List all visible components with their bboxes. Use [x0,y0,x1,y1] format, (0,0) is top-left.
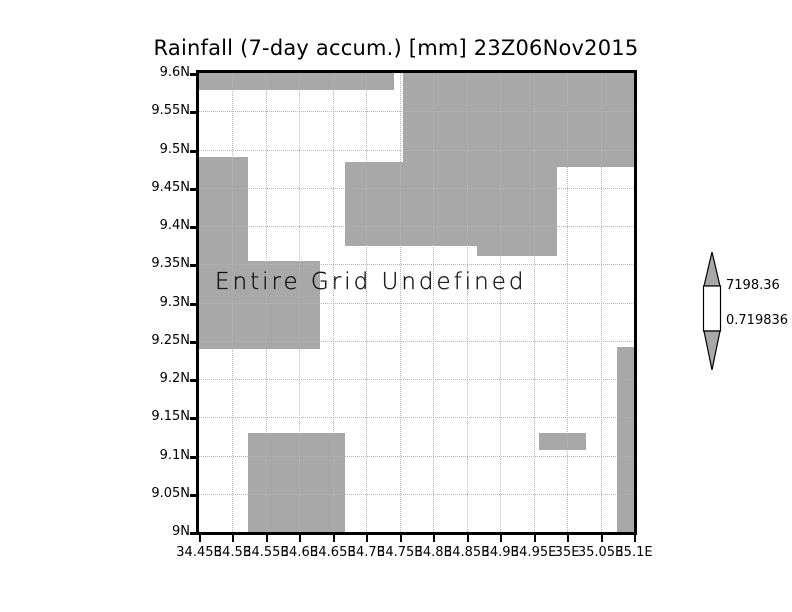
x-axis-tick-label: 34.95E [511,545,556,560]
undefined-cell [617,347,634,436]
undefined-cell [248,433,345,532]
gridline-horizontal [199,264,634,265]
undefined-cell [199,157,248,261]
y-axis-tick-label: 9.15N [151,409,190,424]
y-axis-tick [190,303,197,306]
gridline-horizontal [199,379,634,380]
undefined-cell [617,433,634,532]
x-axis-tick [366,535,368,542]
gridline-horizontal [199,226,634,227]
gridline-horizontal [199,417,634,418]
y-axis-tick [190,456,197,459]
x-axis-tick [534,535,536,542]
y-axis-tick [190,226,197,229]
y-axis-tick [190,73,197,76]
y-axis-tick [190,379,197,382]
undefined-cell [477,167,556,256]
y-axis-tick [190,494,197,497]
y-axis-tick [190,417,197,420]
y-axis-tick-label: 9.2N [160,371,190,386]
colorbar-min-label: 0.719836 [726,313,788,328]
y-axis-tick [190,111,197,114]
y-axis-tick-label: 9.55N [151,103,190,118]
x-axis-tick [601,535,603,542]
y-axis-tick-label: 9.4N [160,218,190,233]
gridline-horizontal [199,341,634,342]
y-axis-tick [190,188,197,191]
plot-inner [199,73,634,532]
y-axis-tick-label: 9N [172,524,190,539]
y-axis-tick [190,150,197,153]
y-axis-tick-label: 9.1N [160,448,190,463]
x-axis-tick [299,535,301,542]
x-axis-tick [232,535,234,542]
entire-grid-undefined-label: Entire Grid Undefined [215,269,527,295]
y-axis-tick [190,532,197,535]
plot-area[interactable]: Entire Grid Undefined [196,70,637,535]
colorbar-max-label: 7198.36 [726,278,780,293]
gridline-horizontal [199,188,634,189]
x-axis-tick-label: 35E [555,545,580,560]
x-axis-tick [634,535,636,542]
colorbar-shape [700,252,724,370]
undefined-cell [403,73,634,167]
x-axis-tick [567,535,569,542]
gridline-horizontal [199,303,634,304]
y-axis-tick-label: 9.6N [160,65,190,80]
y-axis-tick [190,341,197,344]
y-axis-tick [190,264,197,267]
chart-title: Rainfall (7-day accum.) [mm] 23Z06Nov201… [0,36,792,60]
undefined-cell [539,433,585,450]
x-axis-tick [433,535,435,542]
y-axis-tick-label: 9.5N [160,142,190,157]
gridline-horizontal [199,456,634,457]
y-axis-tick-label: 9.05N [151,486,190,501]
x-axis-tick [500,535,502,542]
undefined-cell [617,73,634,167]
x-axis-tick [199,535,201,542]
colorbar[interactable] [700,252,724,370]
chart-canvas: Rainfall (7-day accum.) [mm] 23Z06Nov201… [0,0,792,612]
y-axis-tick-label: 9.25N [151,333,190,348]
x-axis-tick-label: 35.1E [615,545,652,560]
y-axis-tick-label: 9.3N [160,295,190,310]
y-axis-tick-label: 9.35N [151,256,190,271]
x-axis-tick [266,535,268,542]
undefined-cell [199,73,394,90]
gridline-horizontal [199,494,634,495]
gridline-horizontal [199,111,634,112]
x-axis-tick [400,535,402,542]
x-axis-tick [333,535,335,542]
gridline-horizontal [199,150,634,151]
y-axis-tick-label: 9.45N [151,180,190,195]
x-axis-tick [467,535,469,542]
